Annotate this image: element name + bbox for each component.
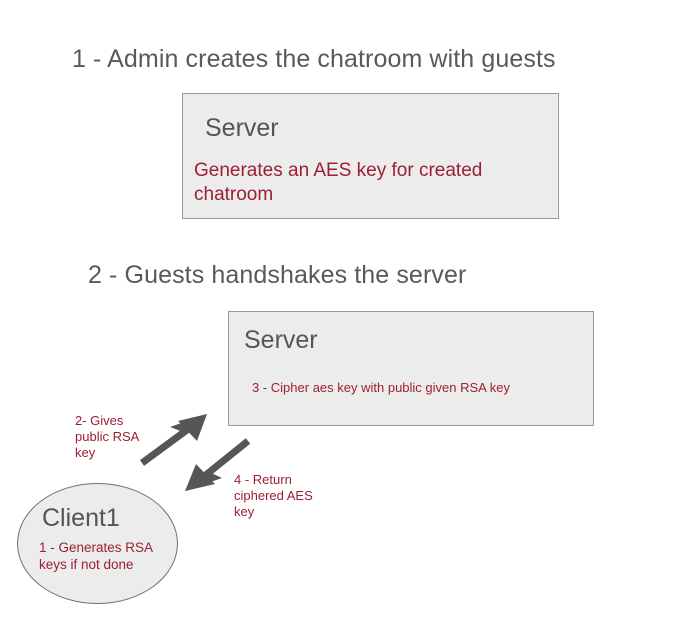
arrow-head-barb-server-to-client <box>185 472 222 491</box>
node-title-server-1: Server <box>205 115 279 141</box>
node-server-2[interactable]: Server 3 - Cipher aes key with public gi… <box>228 311 594 426</box>
section-heading-step-2: 2 - Guests handshakes the server <box>88 262 466 290</box>
node-body-server-2: 3 - Cipher aes key with public given RSA… <box>252 380 582 396</box>
node-title-server-2: Server <box>244 327 318 353</box>
edge-label-gives-public-rsa-key: 2- Gives public RSA key <box>75 413 153 461</box>
node-server-1[interactable]: Server Generates an AES key for created … <box>182 93 559 219</box>
node-client-1[interactable]: Client1 1 - Generates RSA keys if not do… <box>17 483 178 604</box>
arrow-head-barb-client-to-server <box>170 414 207 432</box>
node-body-server-1: Generates an AES key for created chatroo… <box>194 159 550 208</box>
section-heading-step-1: 1 - Admin creates the chatroom with gues… <box>72 46 556 74</box>
diagram-canvas: 1 - Admin creates the chatroom with gues… <box>0 0 691 628</box>
node-title-client-1: Client1 <box>42 505 120 531</box>
arrow-head-client-to-server <box>178 414 207 441</box>
edge-label-return-ciphered-aes-key: 4 - Return ciphered AES key <box>234 472 326 520</box>
arrow-head-server-to-client <box>185 464 215 491</box>
node-body-client-1: 1 - Generates RSA keys if not done <box>39 539 179 574</box>
